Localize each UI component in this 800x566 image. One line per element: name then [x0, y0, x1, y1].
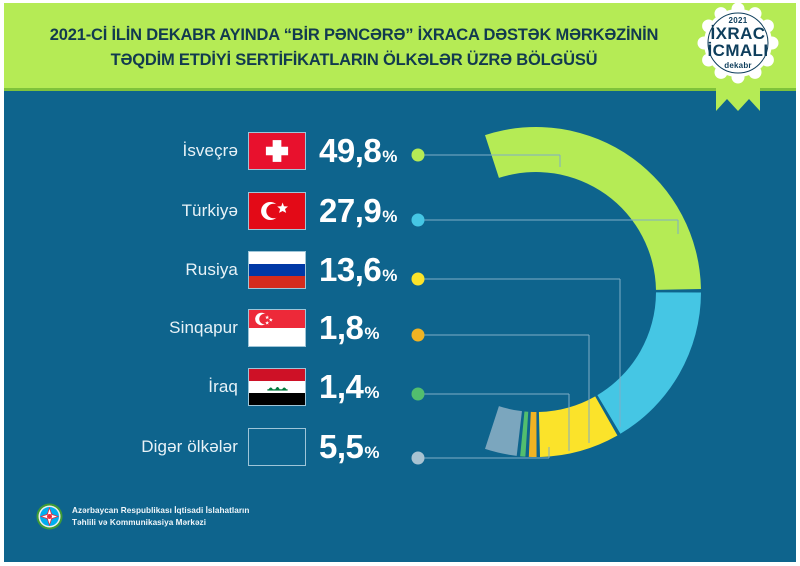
russia-flag-icon — [248, 251, 306, 289]
segment-rusiya — [539, 396, 618, 457]
value-number: 5,5 — [319, 428, 363, 466]
iraq-flag-icon — [248, 368, 306, 406]
footer-text: Azərbaycan Respublikası İqtisadi İslahat… — [72, 505, 249, 528]
percent-symbol: % — [382, 147, 397, 167]
value-number: 49,8 — [319, 132, 381, 170]
country-label-rusiya: Rusiya — [185, 260, 248, 280]
switzerland-flag-icon — [248, 132, 306, 170]
ixrac-icmali-badge: 2021 İXRAC İCMALI dekabr — [680, 3, 796, 115]
country-label-isvecre: İsveçrə — [183, 141, 249, 161]
country-label-diger-olkeler: Digər ölkələr — [141, 437, 248, 457]
footer-line-2: Təhlili və Kommunikasiya Mərkəzi — [72, 517, 249, 529]
value-number: 13,6 — [319, 251, 381, 289]
value-diger-olkeler: 5,5% — [306, 428, 434, 466]
list-item[interactable]: Rusiya 13,6% — [4, 241, 434, 299]
segment-diger-olkeler — [485, 406, 522, 456]
infographic-page: 2021-Cİ İLİN DEKABR AYINDA “BİR PƏNCƏRƏ”… — [0, 0, 800, 566]
turkey-flag-icon — [248, 192, 306, 230]
value-number: 1,4 — [319, 368, 363, 406]
percent-symbol: % — [382, 207, 397, 227]
country-label-iraq: İraq — [208, 377, 248, 397]
blank-flag-icon — [248, 428, 306, 466]
segment-isvecre — [485, 127, 701, 290]
header-underline — [4, 88, 796, 91]
footer-line-1: Azərbaycan Respublikası İqtisadi İslahat… — [72, 505, 249, 517]
percent-symbol: % — [364, 443, 379, 463]
country-label-turkiye: Türkiyə — [182, 201, 248, 221]
percent-symbol: % — [364, 383, 379, 403]
azerbaijan-emblem-icon — [36, 503, 63, 530]
title-line-2: TƏQDİM ETDİYİ SERTİFİKATLARIN ÖLKƏLƏR ÜZ… — [4, 48, 704, 73]
singapore-flag-icon — [248, 309, 306, 347]
country-legend-list: İsveçrə 49,8% Türkiyə — [4, 121, 434, 477]
country-label-sinqapur: Sinqapur — [169, 318, 248, 338]
value-turkiye: 27,9% — [306, 192, 434, 230]
value-number: 27,9 — [319, 192, 381, 230]
badge-seal-icon — [680, 3, 796, 115]
list-item[interactable]: Digər ölkələr 5,5% — [4, 417, 434, 477]
list-item[interactable]: İsveçrə 49,8% — [4, 121, 434, 181]
title-line-1: 2021-Cİ İLİN DEKABR AYINDA “BİR PƏNCƏRƏ”… — [50, 26, 658, 44]
segment-turkiye — [597, 292, 701, 433]
list-item[interactable]: Sinqapur 1,8% — [4, 299, 434, 357]
value-rusiya: 13,6% — [306, 251, 434, 289]
value-iraq: 1,4% — [306, 368, 434, 406]
value-isvecre: 49,8% — [306, 132, 434, 170]
infographic-canvas: 2021-Cİ İLİN DEKABR AYINDA “BİR PƏNCƏRƏ”… — [4, 3, 796, 562]
value-number: 1,8 — [319, 309, 363, 347]
list-item[interactable]: Türkiyə 27,9% — [4, 181, 434, 241]
list-item[interactable]: İraq 1,4% — [4, 357, 434, 417]
percent-symbol: % — [364, 324, 379, 344]
footer: Azərbaycan Respublikası İqtisadi İslahat… — [36, 503, 249, 530]
donut-segments — [485, 127, 701, 457]
segment-iraq — [520, 411, 528, 456]
page-title: 2021-Cİ İLİN DEKABR AYINDA “BİR PƏNCƏRƏ”… — [4, 23, 704, 73]
percent-symbol: % — [382, 266, 397, 286]
value-sinqapur: 1,8% — [306, 309, 434, 347]
segment-sinqapur — [529, 412, 537, 457]
